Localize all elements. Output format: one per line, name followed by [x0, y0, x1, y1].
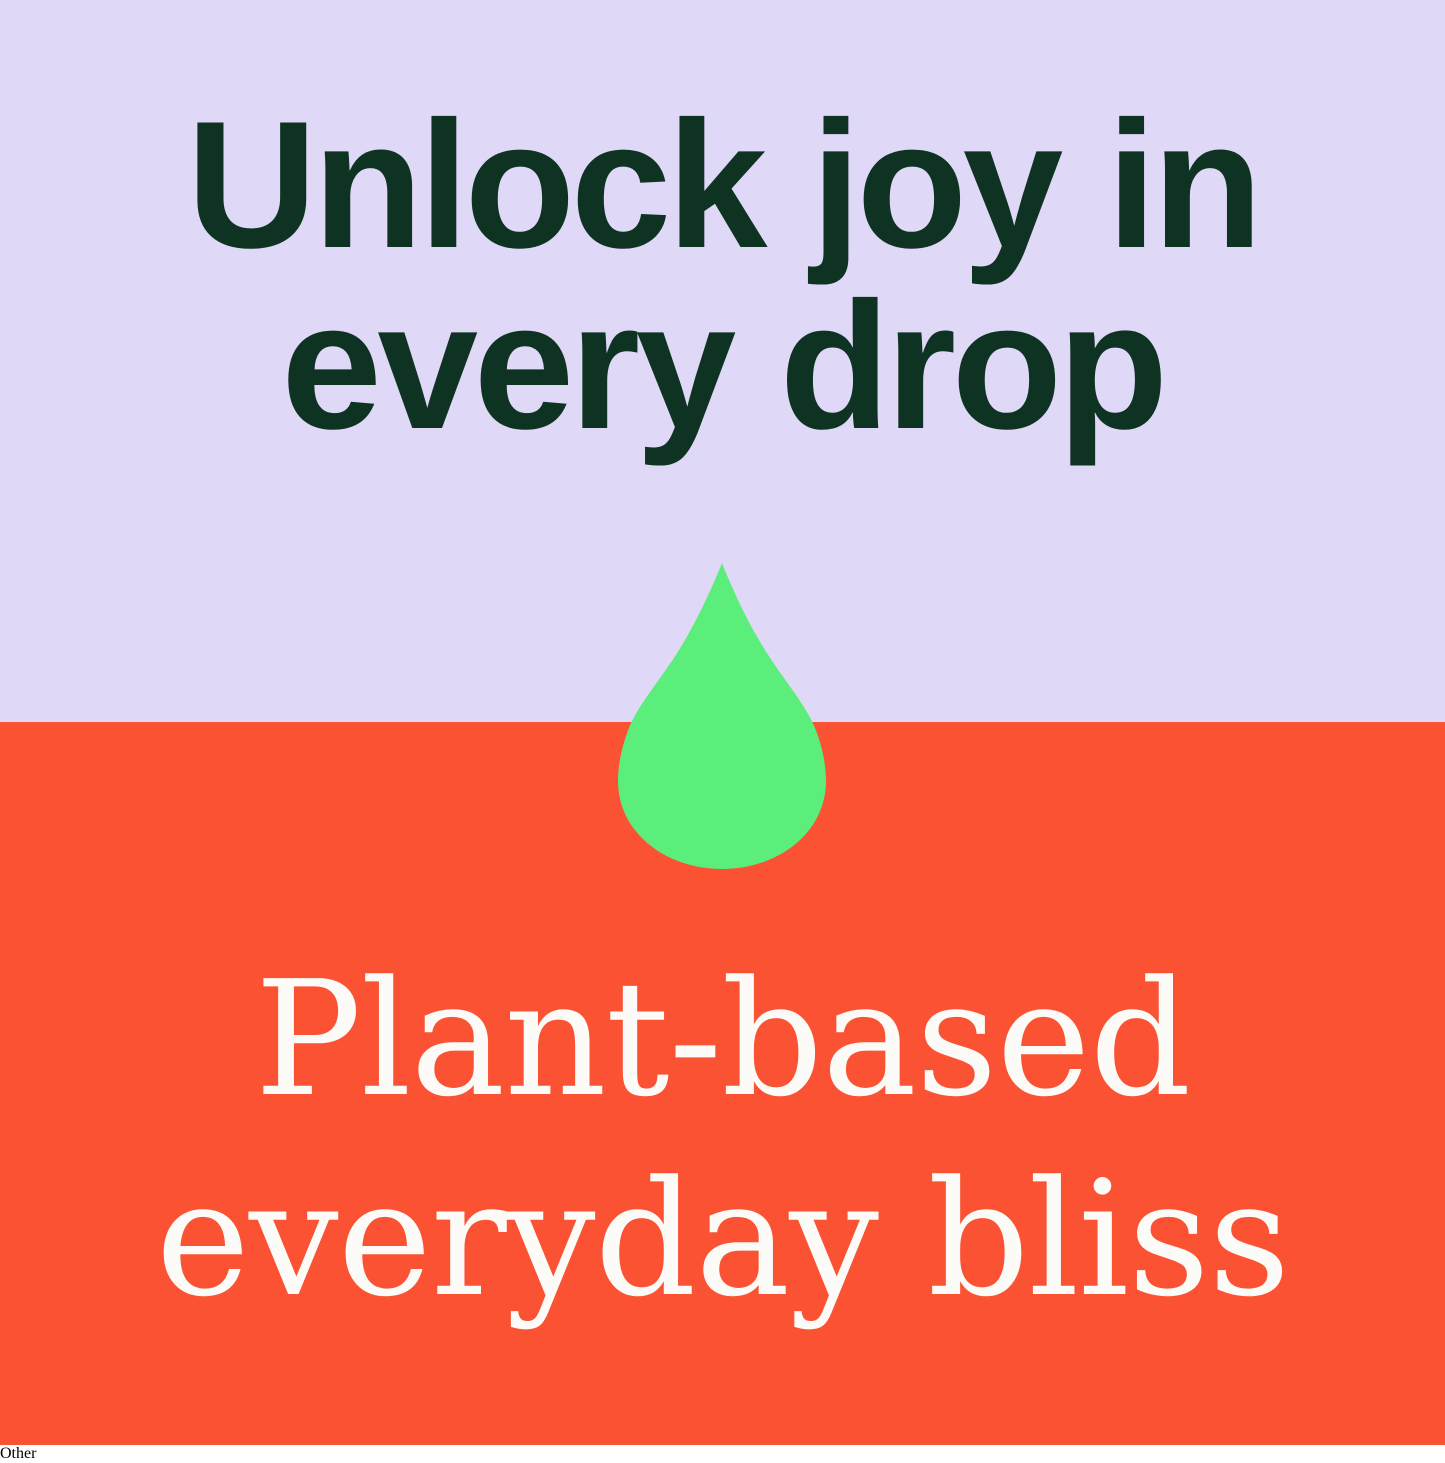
headline-line-2: every drop [0, 277, 1445, 456]
subhead-line-2: everyday bliss [0, 1140, 1445, 1340]
headline: Unlock joy in every drop [0, 96, 1445, 456]
subhead-line-1: Plant-based [0, 940, 1445, 1140]
poster-canvas: Unlock joy in every drop Plant-based eve… [0, 0, 1445, 1445]
headline-line-1: Unlock joy in [0, 96, 1445, 275]
subhead: Plant-based everyday bliss [0, 940, 1445, 1341]
